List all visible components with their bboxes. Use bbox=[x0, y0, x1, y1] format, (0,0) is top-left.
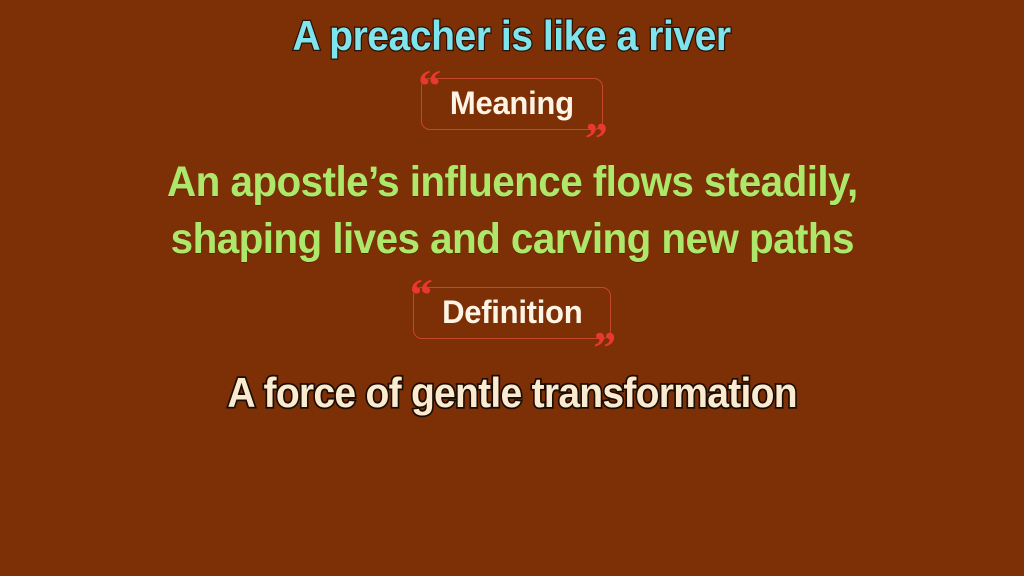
quote-close-icon: ” bbox=[593, 325, 616, 371]
definition-badge: “ Definition ” bbox=[413, 287, 612, 339]
quote-open-icon: “ bbox=[418, 63, 441, 109]
quote-open-icon: “ bbox=[410, 272, 433, 318]
definition-badge-label: Definition bbox=[442, 295, 582, 331]
page-title: A preacher is like a river bbox=[293, 14, 731, 58]
meaning-body-text: An apostle’s influence flows steadily, s… bbox=[167, 154, 858, 268]
meaning-body-line-1: An apostle’s influence flows steadily, bbox=[167, 154, 858, 211]
meaning-badge-label: Meaning bbox=[450, 86, 574, 122]
meaning-body-line-2: shaping lives and carving new paths bbox=[167, 211, 858, 268]
definition-body-text: A force of gentle transformation bbox=[227, 369, 796, 416]
quote-slide: A preacher is like a river “ Meaning ” A… bbox=[0, 0, 1024, 576]
meaning-badge: “ Meaning ” bbox=[421, 78, 603, 130]
